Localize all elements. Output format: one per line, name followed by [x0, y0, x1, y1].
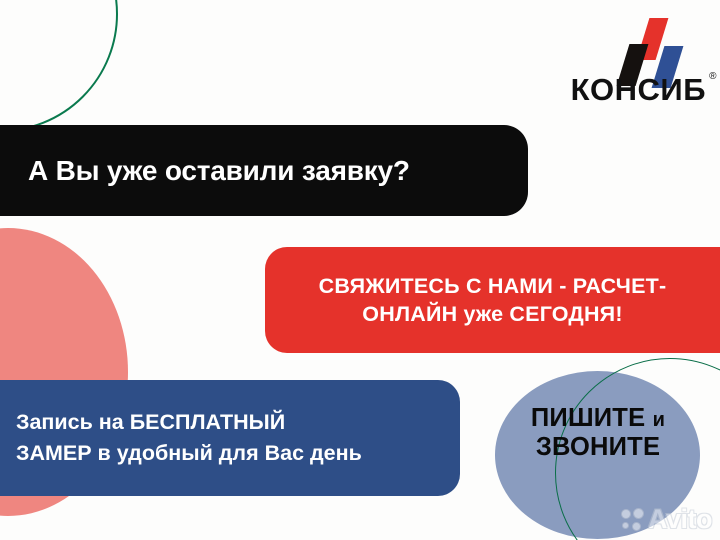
contact-line-1: СВЯЖИТЕСЬ С НАМИ - РАСЧЕТ- [319, 272, 667, 300]
brand-logo: КОНСИБ® [554, 18, 706, 105]
measurement-line-1: Запись на БЕСПЛАТНЫЙ [16, 407, 460, 438]
call-line-1: ПИШИТЕ и [495, 404, 701, 433]
headline-text: А Вы уже оставили заявку? [0, 155, 410, 187]
contact-banner: СВЯЖИТЕСЬ С НАМИ - РАСЧЕТ- ОНЛАЙН уже СЕ… [265, 247, 720, 353]
brand-name: КОНСИБ® [571, 74, 706, 105]
measurement-line-2: ЗАМЕР в удобный для Вас день [16, 438, 460, 469]
avito-wordmark: Avito [648, 506, 712, 533]
registered-trademark-icon: ® [709, 72, 717, 82]
call-word-and: и [653, 409, 666, 431]
green-ring-top-left-decor [0, 0, 118, 132]
logo-mark-icon [610, 18, 688, 72]
headline-banner: А Вы уже оставили заявку? [0, 125, 528, 216]
poster-canvas: КОНСИБ® А Вы уже оставили заявку? СВЯЖИТ… [0, 0, 720, 540]
avito-watermark: Avito [620, 506, 712, 533]
call-line-2: ЗВОНИТЕ [495, 433, 701, 462]
call-word-write: ПИШИТЕ [531, 404, 645, 432]
free-measurement-banner: Запись на БЕСПЛАТНЫЙ ЗАМЕР в удобный для… [0, 380, 460, 496]
avito-dots-icon [620, 508, 646, 532]
call-to-action-text: ПИШИТЕ и ЗВОНИТЕ [495, 404, 701, 461]
contact-line-2: ОНЛАЙН уже СЕГОДНЯ! [362, 300, 622, 328]
